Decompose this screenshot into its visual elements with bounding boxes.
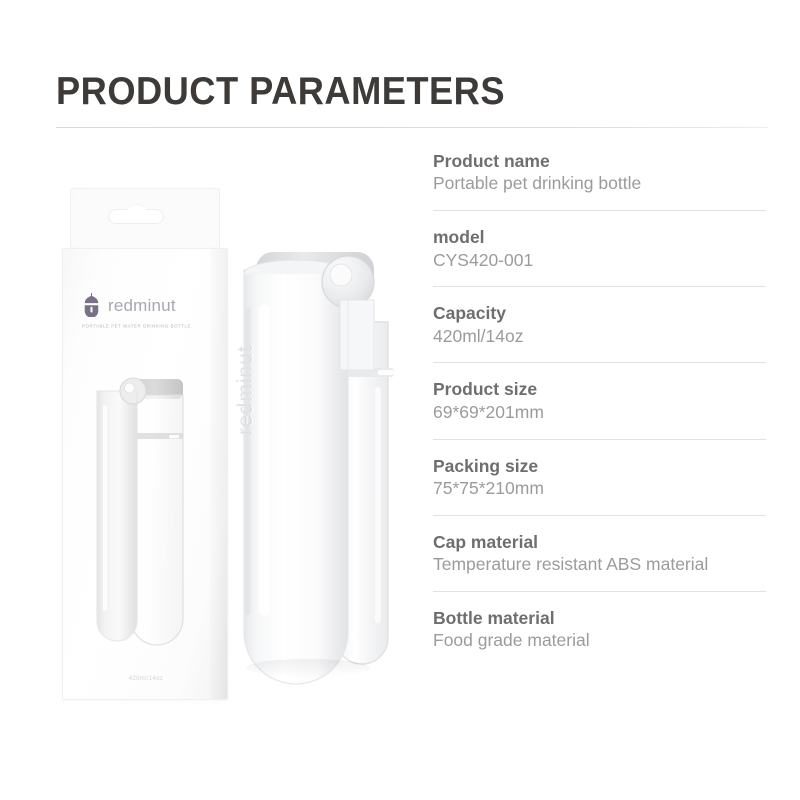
spec-value: Temperature resistant ABS material: [433, 553, 766, 576]
spec-value: Food grade material: [433, 629, 766, 652]
page-header: PRODUCT PARAMETERS: [56, 72, 768, 111]
retail-package-box: redminut PORTABLE PET WATER DRINKING BOT…: [62, 188, 228, 700]
spec-label: Product name: [433, 150, 766, 172]
title-divider: [56, 127, 768, 128]
bottle-illustration: [228, 240, 418, 710]
spec-row-capacity: Capacity 420ml/14oz: [433, 286, 766, 362]
spec-label: Cap material: [433, 531, 766, 553]
product-parameters-page: PRODUCT PARAMETERS: [0, 0, 800, 800]
package-hang-tab: [70, 188, 220, 250]
spec-value: Portable pet drinking bottle: [433, 172, 766, 195]
package-brand-name: redminut: [108, 297, 176, 314]
hang-hole-icon: [109, 210, 163, 223]
spec-label: Bottle material: [433, 607, 766, 629]
package-brand-lockup: redminut: [82, 293, 176, 317]
page-title: PRODUCT PARAMETERS: [56, 72, 718, 111]
pet-bottle-logo-icon: [82, 293, 101, 317]
spec-value: 69*69*201mm: [433, 401, 766, 424]
package-capacity-print: 420ml/14oz: [63, 676, 228, 682]
spec-label: Packing size: [433, 455, 766, 477]
spec-row-product-size: Product size 69*69*201mm: [433, 362, 766, 438]
hero-product-photo: redminut: [228, 240, 418, 710]
spec-label: Capacity: [433, 302, 766, 324]
spec-value: CYS420-001: [433, 249, 766, 272]
package-tagline: PORTABLE PET WATER DRINKING BOTTLE: [82, 323, 191, 329]
spec-label: model: [433, 226, 766, 248]
package-side-fold: [210, 249, 227, 699]
package-product-illustration: [91, 371, 203, 661]
spec-value: 420ml/14oz: [433, 325, 766, 348]
specification-list: Product name Portable pet drinking bottl…: [433, 150, 766, 667]
spec-row-product-name: Product name Portable pet drinking bottl…: [433, 150, 766, 210]
package-face: redminut PORTABLE PET WATER DRINKING BOT…: [62, 248, 228, 700]
spec-row-cap-material: Cap material Temperature resistant ABS m…: [433, 515, 766, 591]
spec-value: 75*75*210mm: [433, 477, 766, 500]
spec-row-model: model CYS420-001: [433, 210, 766, 286]
spec-row-packing-size: Packing size 75*75*210mm: [433, 439, 766, 515]
spec-label: Product size: [433, 378, 766, 400]
product-imagery: redminut PORTABLE PET WATER DRINKING BOT…: [0, 140, 420, 760]
spec-row-bottle-material: Bottle material Food grade material: [433, 591, 766, 667]
